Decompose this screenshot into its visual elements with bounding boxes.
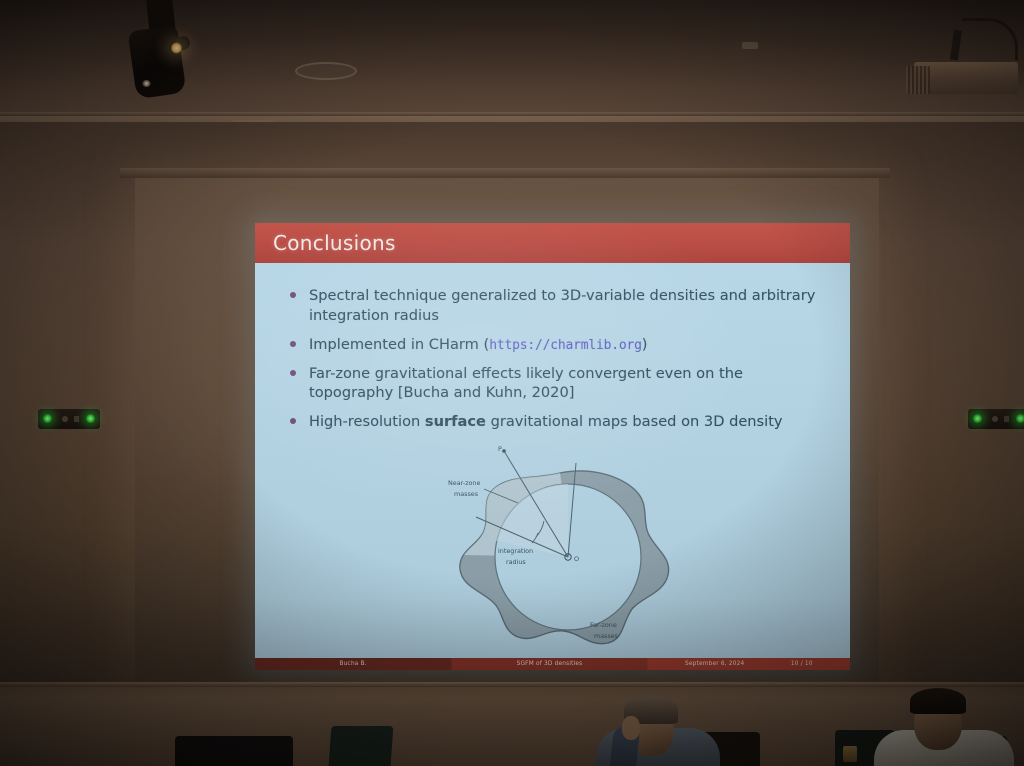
diagram-svg: P O Near-zone masses Far-zone masses int… xyxy=(440,445,690,650)
table-edge xyxy=(0,682,1024,687)
near-zone-far-zone-diagram: P O Near-zone masses Far-zone masses int… xyxy=(440,445,690,650)
wall-control-panel-left[interactable] xyxy=(38,409,100,429)
bullet-text-tail: gravitational maps based on 3D density xyxy=(486,413,783,430)
projected-slide: Conclusions Spectral technique generaliz… xyxy=(255,223,850,670)
projection-screen-housing xyxy=(120,168,890,178)
list-item: Far-zone gravitational effects likely co… xyxy=(285,364,824,404)
photo-scene: Conclusions Spectral technique generaliz… xyxy=(0,0,1024,766)
bullet-text: High-resolution xyxy=(309,413,425,430)
bullet-dot-icon xyxy=(290,418,296,424)
far-zone-label-line1: Far-zone xyxy=(590,621,617,629)
bullet-text-tail: ) xyxy=(642,336,648,353)
wall-control-panel-right[interactable] xyxy=(968,409,1024,429)
footer-author: Bucha B. xyxy=(255,661,451,667)
footer-talk-title: SGFM of 3D densities xyxy=(451,661,647,667)
integration-radius-label-line1: integration xyxy=(498,547,533,555)
ceiling-spotlight xyxy=(118,0,206,104)
point-p-label: P xyxy=(498,445,502,453)
panel-indicator-dot xyxy=(62,416,68,422)
ceiling-projector xyxy=(906,56,1024,102)
slide-footer: Bucha B. SGFM of 3D densities September … xyxy=(255,658,850,670)
list-item: High-resolution surface gravitational ma… xyxy=(285,412,824,432)
status-led-green-icon xyxy=(43,414,52,423)
bullet-dot-icon xyxy=(290,370,296,376)
desk-object xyxy=(843,746,857,762)
spotlight-lamp-glow xyxy=(170,42,183,54)
integration-radius-label-line2: radius xyxy=(506,558,526,566)
footer-date: September 6, 2024 xyxy=(685,661,744,667)
bullet-dot-icon xyxy=(290,341,296,347)
far-zone-label-line2: masses xyxy=(594,632,619,640)
status-led-green-icon xyxy=(1016,414,1024,423)
panel-indicator-slot xyxy=(74,416,79,422)
slide-title-bar: Conclusions xyxy=(255,223,850,263)
bullet-text-emphasis: surface xyxy=(425,413,486,430)
slide-title: Conclusions xyxy=(255,231,396,255)
near-zone-label-line1: Near-zone xyxy=(448,479,480,487)
spotlight-secondary-glint xyxy=(142,80,151,87)
panel-indicator-dot xyxy=(992,416,998,422)
bullet-text: Implemented in CHarm ( xyxy=(309,336,489,353)
list-item: Spectral technique generalized to 3D-var… xyxy=(285,286,824,326)
panel-indicator-slot xyxy=(1004,416,1009,422)
chair-back xyxy=(175,736,293,766)
bullet-dot-icon xyxy=(290,292,296,298)
projector-vent-grille xyxy=(906,66,930,94)
foreground-audience-area xyxy=(0,682,1024,766)
point-o-label: O xyxy=(574,555,579,563)
slide-bullet-list: Spectral technique generalized to 3D-var… xyxy=(285,286,824,432)
attendee-hair xyxy=(910,688,966,714)
ceiling-fitting xyxy=(742,42,758,49)
chair-back xyxy=(329,726,394,766)
list-item: Implemented in CHarm (https://charmlib.o… xyxy=(285,335,824,355)
charmlib-link[interactable]: https://charmlib.org xyxy=(489,338,642,353)
footer-right-group: September 6, 2024 10 / 10 xyxy=(648,661,850,667)
ceiling-vent-icon xyxy=(295,62,357,80)
seated-attendee-white-shirt xyxy=(880,686,1010,766)
footer-page-number: 10 / 10 xyxy=(791,661,813,667)
bullet-text: Spectral technique generalized to 3D-var… xyxy=(309,287,815,324)
attendee-hand xyxy=(622,716,640,740)
seated-attendee-grey-hair xyxy=(598,692,718,766)
status-led-green-icon xyxy=(973,414,982,423)
status-led-green-icon xyxy=(86,414,95,423)
spotlight-head xyxy=(128,25,187,99)
point-p-marker xyxy=(502,449,506,453)
near-zone-label-line2: masses xyxy=(454,490,479,498)
bullet-text: Far-zone gravitational effects likely co… xyxy=(309,365,743,402)
